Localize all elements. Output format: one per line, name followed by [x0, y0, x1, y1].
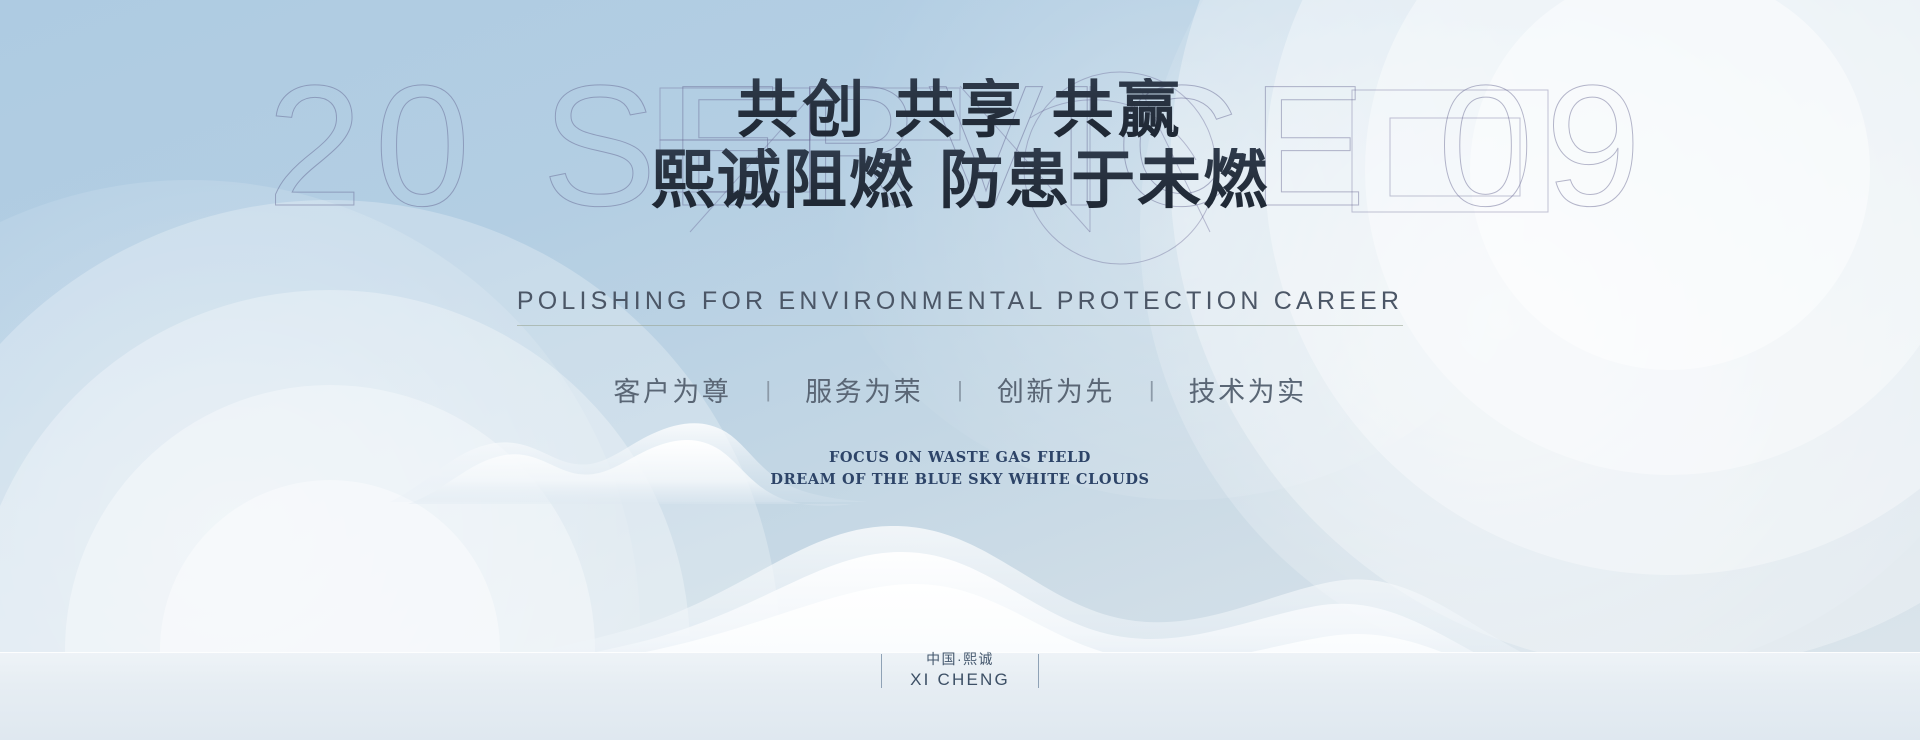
value-item-3: 创新为先 [963, 370, 1149, 409]
tagline-block: POLISHING FOR ENVIRONMENTAL PROTECTION C… [517, 287, 1403, 326]
sub-tagline-line-1: FOCUS ON WASTE GAS FIELD [770, 447, 1149, 469]
sub-tagline-block: FOCUS ON WASTE GAS FIELD DREAM OF THE BL… [770, 447, 1149, 492]
banner-content: 共创 共享 共赢 熙诚阻燃 防患于未燃 POLISHING FOR ENVIRO… [0, 0, 1920, 740]
headline-line-primary: 共创 共享 共赢 [651, 78, 1269, 142]
brand-divider-right [1038, 654, 1039, 688]
brand-lockup: 中国·熙诚 XI CHENG [0, 650, 1920, 692]
value-item-4: 技术为实 [1155, 370, 1341, 409]
headline-line-secondary: 熙诚阻燃 防患于未燃 [651, 148, 1269, 215]
value-item-1: 客户为尊 [579, 370, 765, 409]
sub-tagline-line-2: DREAM OF THE BLUE SKY WHITE CLOUDS [770, 469, 1149, 491]
english-tagline: POLISHING FOR ENVIRONMENTAL PROTECTION C… [517, 287, 1403, 326]
value-proposition-list: 客户为尊 | 服务为荣 | 创新为先 | 技术为实 [579, 370, 1340, 409]
headline-block: 共创 共享 共赢 熙诚阻燃 防患于未燃 [651, 78, 1269, 215]
brand-divider-left [881, 654, 882, 688]
brand-name-en: XI CHENG [910, 669, 1010, 692]
brand-name-block: 中国·熙诚 XI CHENG [910, 650, 1010, 692]
brand-name-cn: 中国·熙诚 [910, 650, 1010, 669]
promotional-banner: 20 SERVICE 09 [0, 0, 1920, 740]
value-item-2: 服务为荣 [771, 370, 957, 409]
